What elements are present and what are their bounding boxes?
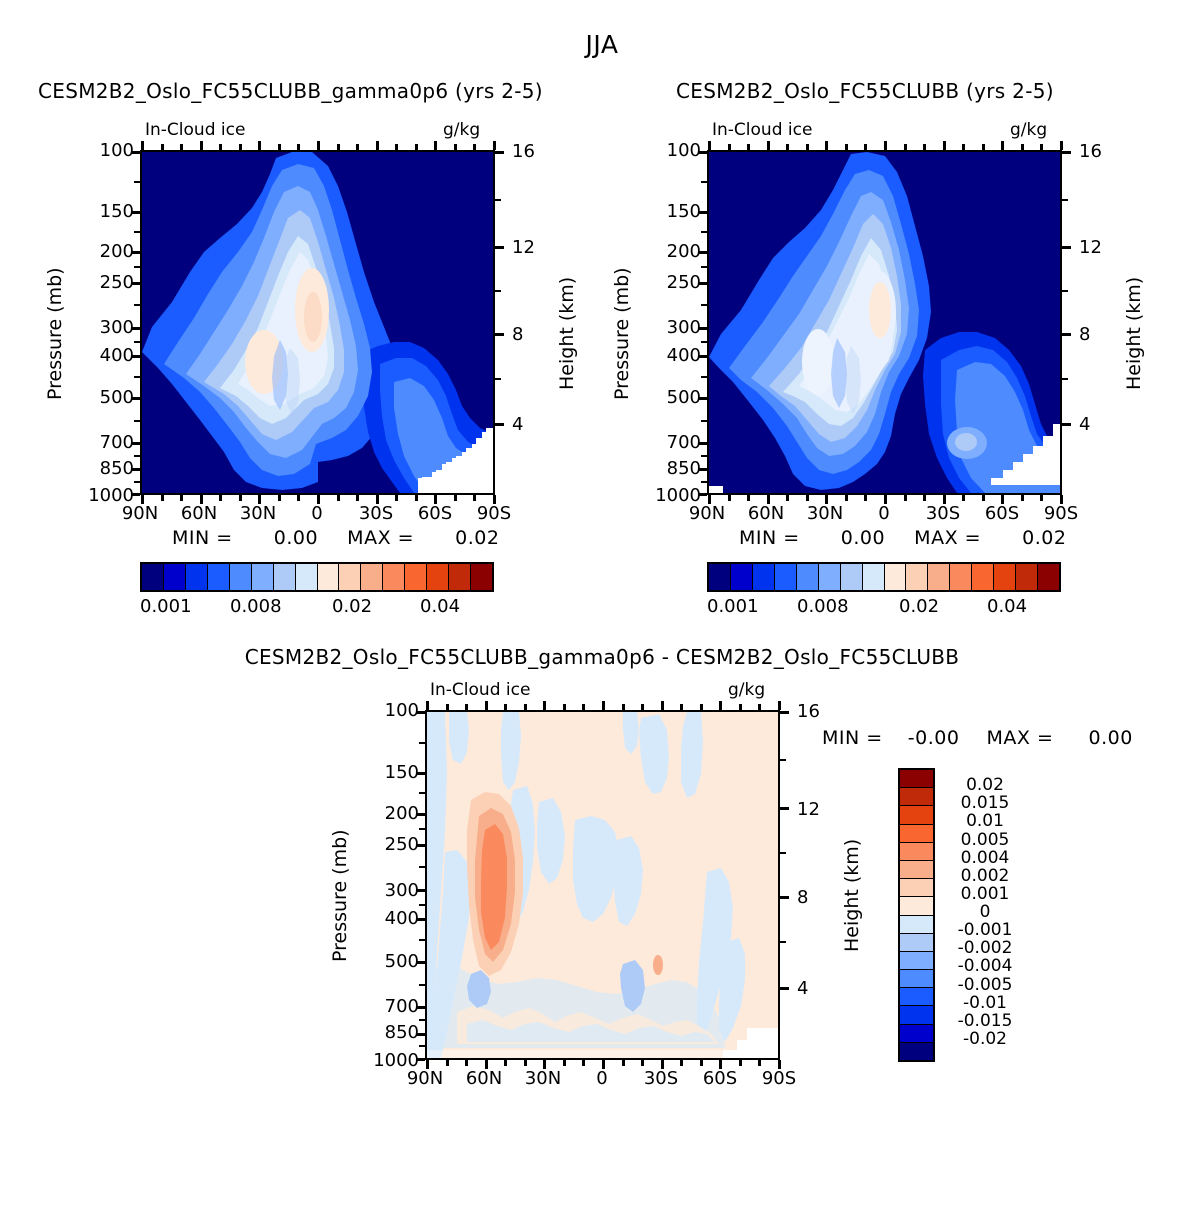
diff-xtick-top-major-0 [426,701,429,710]
panel-diff-ytick-300: 300 [377,880,419,901]
panel-diff-colorbar-labels: 0.020.0150.010.0050.0040.0020.0010-0.001… [940,768,1060,1058]
right-xtick-minor-11 [923,495,926,501]
left-xtick-top-major-6 [258,141,261,150]
panel-left-ytick-150: 150 [92,201,134,222]
panel-left-xtick-60S: 60S [407,503,463,524]
panel-diff-ytick-850: 850 [377,1022,419,1043]
panel-right-xtick-30N: 30N [797,503,853,524]
panel-diff-colorbar[interactable] [898,768,935,1062]
panel-left-variable-label: In-Cloud ice [145,120,245,140]
diff-colorbar-cell-10[interactable] [900,952,933,970]
diff-colorbar-label-9: -0.002 [940,938,1030,958]
diff-xtick-minor-16 [739,1060,742,1066]
diff-colorbar-label-5: 0.002 [940,866,1030,886]
diff-xtick-top-major-9 [602,701,605,710]
panel-right-variable-label: In-Cloud ice [712,120,812,140]
right-colorbar-cell-12[interactable] [972,564,994,590]
diff-colorbar-label-14: -0.02 [940,1029,1030,1049]
panel-left-ytick-200: 200 [92,241,134,262]
right-colorbar-cell-15[interactable] [1038,564,1059,590]
diff-colorbar-cell-13[interactable] [900,1006,933,1024]
figure-suptitle: JJA [0,30,1204,59]
diff-colorbar-cell-15[interactable] [900,1043,933,1060]
right-colorbar-cell-8[interactable] [885,564,907,590]
right-xtick-minor-4 [786,495,789,501]
panel-left-ytick-300: 300 [92,317,134,338]
panel-diff-ytick-700: 700 [377,996,419,1017]
diff-xtick-top-major-18 [778,701,781,710]
right-xtick-minor-8 [864,495,867,501]
diff-colorbar-label-12: -0.01 [940,993,1030,1013]
right-xtick-top-major-6 [825,141,828,150]
right-colorbar-cell-3[interactable] [775,564,797,590]
left-y2tick-minor-2 [495,378,501,380]
right-colorbar-cell-1[interactable] [731,564,753,590]
panel-left-xtick-0: 0 [289,503,345,524]
left-xtick-minor-10 [337,495,340,501]
diff-xtick-top-major-6 [543,701,546,710]
diff-xtick-minor-14 [700,1060,703,1066]
panel-left-minmax: MIN = 0.00 MAX = 0.02 [172,527,499,549]
left-colorbar-cell-13[interactable] [427,564,449,590]
diff-y2tick-major-2 [780,896,789,899]
right-xtick-minor-1 [728,495,731,501]
diff-xtick-minor-7 [563,1060,566,1066]
diff-colorbar-cell-11[interactable] [900,970,933,988]
panel-diff-units-label: g/kg [728,680,765,700]
diff-y2tick-minor-1 [780,852,786,854]
right-y2tick-minor-0 [1062,199,1068,201]
panel-diff-max-label: MAX = [987,727,1054,749]
right-xtick-minor-17 [1040,495,1043,501]
panel-left-xtick-60N: 60N [171,503,227,524]
panel-diff-y2-axis-label: Height (km) [841,839,863,952]
left-colorbar-cell-8[interactable] [318,564,340,590]
left-xtick-minor-7 [278,495,281,501]
right-xtick-top-major-15 [1001,141,1004,150]
panel-left-ytick-400: 400 [92,345,134,366]
panel-left-xtick-30N: 30N [230,503,286,524]
diff-colorbar-label-0: 0.02 [940,775,1030,795]
panel-left-xtick-30S: 30S [348,503,404,524]
right-colorbar-cell-4[interactable] [797,564,819,590]
right-xtick-minor-5 [806,495,809,501]
right-colorbar-cell-14[interactable] [1016,564,1038,590]
panel-right-min-value: 0.00 [841,527,885,549]
left-xtick-top-major-12 [376,141,379,150]
right-xtick-minor-16 [1021,495,1024,501]
panel-left-xtick-90N: 90N [112,503,168,524]
panel-left-ytick-700: 700 [92,432,134,453]
panel-right-ytick-400: 400 [659,345,701,366]
left-xtick-top-major-9 [317,141,320,150]
diff-colorbar-label-13: -0.015 [940,1011,1030,1031]
panel-diff-ytick-250: 250 [377,834,419,855]
right-xtick-top-major-0 [708,141,711,150]
diff-xtick-minor-8 [582,1060,585,1066]
panel-right-max-value: 0.02 [1022,527,1066,549]
left-y2tick-minor-1 [495,290,501,292]
panel-diff-ytick-100: 100 [377,700,419,721]
panel-left-ytick-250: 250 [92,272,134,293]
right-colorbar-cell-11[interactable] [950,564,972,590]
panel-right-y2tick-12: 12 [1079,237,1102,258]
panel-right-minmax: MIN = 0.00 MAX = 0.02 [739,527,1066,549]
left-xtick-minor-1 [161,495,164,501]
panel-right-xtick-0: 0 [856,503,912,524]
panel-diff-ytick-150: 150 [377,762,419,783]
diff-colorbar-cell-1[interactable] [900,788,933,806]
panel-right-ytick-150: 150 [659,201,701,222]
panel-right-colorbar[interactable] [707,562,1061,592]
cbR-label-3: 0.04 [987,596,1027,617]
panel-left-units-label: g/kg [443,120,480,140]
panel-left-title: CESM2B2_Oslo_FC55CLUBB_gamma0p6 (yrs 2-5… [38,79,543,103]
panel-diff-ytick-200: 200 [377,803,419,824]
panel-left-colorbar[interactable] [140,562,494,592]
left-colorbar-cell-0[interactable] [142,564,164,590]
diff-colorbar-label-10: -0.004 [940,956,1030,976]
right-xtick-minor-13 [962,495,965,501]
panel-left-max-label: MAX = [347,527,414,549]
cbL-label-3: 0.04 [420,596,460,617]
left-colorbar-cell-5[interactable] [252,564,274,590]
panel-right-ytick-700: 700 [659,432,701,453]
left-colorbar-cell-2[interactable] [186,564,208,590]
right-y2tick-minor-2 [1062,378,1068,380]
left-xtick-minor-5 [239,495,242,501]
right-colorbar-cell-0[interactable] [709,564,731,590]
panel-diff-y2tick-8: 8 [797,887,808,908]
diff-colorbar-cell-2[interactable] [900,806,933,824]
panel-diff-xtick-90N: 90N [397,1068,453,1089]
panel-right-ytick-300: 300 [659,317,701,338]
left-xtick-top-major-15 [434,141,437,150]
left-colorbar-cell-7[interactable] [296,564,318,590]
panel-right-units-label: g/kg [1010,120,1047,140]
diff-xtick-minor-17 [758,1060,761,1066]
panel-right-max-label: MAX = [914,527,981,549]
left-y2tick-major-1 [495,246,504,249]
left-colorbar-cell-10[interactable] [361,564,383,590]
left-y2tick-major-0 [495,151,504,154]
panel-left-max-value: 0.02 [455,527,499,549]
left-colorbar-cell-3[interactable] [208,564,230,590]
panel-right-y2-axis-label: Height (km) [1123,277,1145,390]
panel-right-ytick-200: 200 [659,241,701,262]
panel-diff-ytick-400: 400 [377,908,419,929]
panel-diff-title: CESM2B2_Oslo_FC55CLUBB_gamma0p6 - CESM2B… [0,645,1204,669]
panel-left-ytick-850: 850 [92,458,134,479]
left-colorbar-cell-1[interactable] [164,564,186,590]
panel-diff-min-label: MIN = [822,727,883,749]
cbL-label-0: 0.001 [140,596,192,617]
left-colorbar-cell-6[interactable] [274,564,296,590]
panel-left-ytick-500: 500 [92,387,134,408]
left-y2tick-major-2 [495,333,504,336]
diff-colorbar-cell-8[interactable] [900,916,933,934]
panel-right-title: CESM2B2_Oslo_FC55CLUBB (yrs 2-5) [676,79,1054,103]
panel-left-xtick-90S: 90S [466,503,522,524]
diff-colorbar-label-8: -0.001 [940,920,1030,940]
diff-y2tick-minor-0 [780,759,786,761]
panel-diff-y2tick-16: 16 [797,701,820,722]
left-colorbar-cell-14[interactable] [449,564,471,590]
left-colorbar-cell-12[interactable] [405,564,427,590]
panel-diff-y2tick-12: 12 [797,799,820,820]
left-xtick-minor-4 [219,495,222,501]
diff-colorbar-cell-3[interactable] [900,825,933,843]
diff-colorbar-cell-4[interactable] [900,843,933,861]
left-xtick-top-major-3 [200,141,203,150]
panel-diff-xtick-90S: 90S [751,1068,807,1089]
diff-y2tick-major-1 [780,807,789,810]
left-xtick-minor-11 [356,495,359,501]
panel-diff-minmax: MIN = -0.00 MAX = 0.00 [822,727,1133,749]
diff-colorbar-cell-5[interactable] [900,861,933,879]
cbR-label-1: 0.008 [797,596,849,617]
panel-right-xtick-90N: 90N [679,503,735,524]
diff-colorbar-cell-0[interactable] [900,770,933,788]
cbR-label-2: 0.02 [899,596,939,617]
left-xtick-top-major-0 [141,141,144,150]
left-xtick-minor-14 [415,495,418,501]
left-y2tick-major-3 [495,423,504,426]
right-colorbar-cell-10[interactable] [928,564,950,590]
right-colorbar-cell-5[interactable] [819,564,841,590]
left-y2tick-minor-0 [495,199,501,201]
diff-xtick-top-major-3 [485,701,488,710]
left-colorbar-cell-11[interactable] [383,564,405,590]
right-y2tick-minor-1 [1062,290,1068,292]
panel-right-xtick-60S: 60S [974,503,1030,524]
panel-left-y2tick-12: 12 [512,237,535,258]
panel-right-y2tick-4: 4 [1079,414,1090,435]
diff-xtick-minor-1 [446,1060,449,1066]
panel-right-ytick-500: 500 [659,387,701,408]
right-colorbar-cell-2[interactable] [753,564,775,590]
left-colorbar-cell-4[interactable] [230,564,252,590]
panel-diff-y2tick-4: 4 [797,978,808,999]
left-xtick-minor-16 [454,495,457,501]
panel-left-y2tick-8: 8 [512,324,523,345]
diff-colorbar-label-7: 0 [940,902,1030,922]
diff-xtick-minor-2 [465,1060,468,1066]
panel-diff-ytick-500: 500 [377,951,419,972]
diff-xtick-top-major-15 [719,701,722,710]
right-xtick-minor-2 [747,495,750,501]
left-colorbar-cell-15[interactable] [471,564,492,590]
panel-diff-max-value: 0.00 [1089,727,1133,749]
diff-colorbar-cell-12[interactable] [900,988,933,1006]
left-xtick-minor-8 [297,495,300,501]
diff-colorbar-label-6: 0.001 [940,884,1030,904]
diff-xtick-minor-13 [680,1060,683,1066]
panel-right-y-axis-label: Pressure (mb) [611,267,633,400]
right-xtick-minor-10 [904,495,907,501]
right-xtick-top-major-12 [943,141,946,150]
panel-diff-min-value: -0.00 [908,727,960,749]
right-y2tick-major-0 [1062,151,1071,154]
diff-colorbar-label-2: 0.01 [940,811,1030,831]
panel-diff-xtick-30N: 30N [515,1068,571,1089]
right-colorbar-cell-13[interactable] [994,564,1016,590]
panel-diff-xtick-60N: 60N [456,1068,512,1089]
diff-colorbar-cell-6[interactable] [900,879,933,897]
right-xtick-top-major-9 [884,141,887,150]
left-xtick-minor-13 [395,495,398,501]
right-xtick-top-major-3 [767,141,770,150]
diff-xtick-minor-5 [524,1060,527,1066]
diff-y2tick-major-0 [780,711,789,714]
panel-right-xtick-60N: 60N [738,503,794,524]
panel-left-y2-axis-label: Height (km) [556,277,578,390]
left-xtick-minor-2 [180,495,183,501]
diff-xtick-minor-11 [641,1060,644,1066]
panel-left-min-value: 0.00 [274,527,318,549]
diff-xtick-top-major-12 [661,701,664,710]
diff-colorbar-cell-9[interactable] [900,934,933,952]
right-colorbar-cell-9[interactable] [906,564,928,590]
right-y2tick-major-1 [1062,246,1071,249]
right-y2tick-major-2 [1062,333,1071,336]
diff-colorbar-label-3: 0.005 [940,830,1030,850]
panel-right-ytick-250: 250 [659,272,701,293]
diff-y2tick-major-3 [780,987,789,990]
left-colorbar-cell-9[interactable] [339,564,361,590]
panel-left-y2tick-16: 16 [512,141,535,162]
panel-right-xtick-90S: 90S [1033,503,1089,524]
diff-colorbar-cell-7[interactable] [900,897,933,915]
left-xtick-top-major-18 [493,141,496,150]
panel-diff-xtick-30S: 30S [633,1068,689,1089]
right-xtick-minor-7 [845,495,848,501]
diff-xtick-minor-10 [622,1060,625,1066]
diff-colorbar-label-4: 0.004 [940,848,1030,868]
panel-left-plot-area[interactable] [140,150,495,495]
diff-y2tick-minor-2 [780,941,786,943]
panel-right-y2tick-16: 16 [1079,141,1102,162]
right-colorbar-cell-6[interactable] [841,564,863,590]
panel-diff-xtick-0: 0 [574,1068,630,1089]
panel-diff-variable-label: In-Cloud ice [430,680,530,700]
diff-xtick-minor-4 [504,1060,507,1066]
left-xtick-minor-17 [473,495,476,501]
panel-right-ytick-100: 100 [659,140,701,161]
panel-left-y-axis-label: Pressure (mb) [44,267,66,400]
panel-right-plot-area[interactable] [707,150,1062,495]
panel-left-y2tick-4: 4 [512,414,523,435]
cbL-label-1: 0.008 [230,596,282,617]
panel-right-min-label: MIN = [739,527,800,549]
panel-diff-xtick-60S: 60S [692,1068,748,1089]
diff-colorbar-label-1: 0.015 [940,793,1030,813]
panel-diff-plot-area[interactable] [425,710,780,1060]
panel-left-min-label: MIN = [172,527,233,549]
cbR-label-0: 0.001 [707,596,759,617]
right-xtick-top-major-18 [1060,141,1063,150]
right-xtick-minor-14 [982,495,985,501]
right-colorbar-cell-7[interactable] [863,564,885,590]
panel-diff-y-axis-label: Pressure (mb) [329,829,351,962]
panel-right-ytick-850: 850 [659,458,701,479]
cbL-label-2: 0.02 [332,596,372,617]
panel-left-ytick-100: 100 [92,140,134,161]
panel-right-y2tick-8: 8 [1079,324,1090,345]
diff-colorbar-label-11: -0.005 [940,975,1030,995]
diff-colorbar-cell-14[interactable] [900,1025,933,1043]
panel-right-xtick-30S: 30S [915,503,971,524]
right-y2tick-major-3 [1062,423,1071,426]
